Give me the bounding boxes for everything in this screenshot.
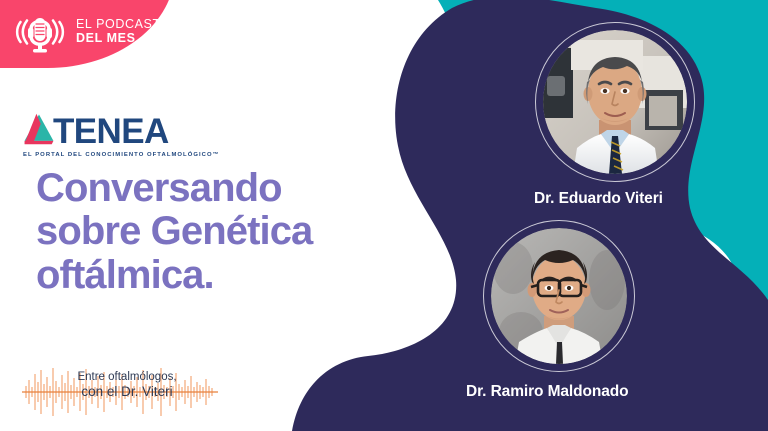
headline-line-2: sobre Genética: [36, 210, 312, 253]
waveform-tagline-text: Entre oftalmólogos, con el Dr. Viteri: [22, 370, 232, 400]
atenea-triangle-icon: [22, 112, 56, 146]
waveform-tagline-line1: Entre oftalmólogos,: [22, 370, 232, 384]
podcast-promo-graphic: EL PODCAST DEL MES TENEA EL PORTAL DEL C…: [0, 0, 768, 431]
avatar-eduardo-viteri: [543, 30, 687, 174]
page-title: Conversando sobre Genética oftálmica.: [36, 167, 312, 297]
guest-name-eduardo-viteri: Dr. Eduardo Viteri: [534, 190, 663, 208]
guest-name-ramiro-maldonado: Dr. Ramiro Maldonado: [466, 383, 629, 401]
podcast-banner-line2: DEL MES: [76, 31, 161, 45]
atenea-logo: TENEA EL PORTAL DEL CONOCIMIENTO OFTALMO…: [22, 112, 220, 158]
avatar-ramiro-maldonado: [491, 228, 627, 364]
headline-line-3: oftálmica.: [36, 254, 312, 297]
waveform-tagline-line2: con el Dr. Viteri: [22, 384, 232, 400]
podcast-banner-line1: EL PODCAST: [76, 17, 161, 31]
headline-line-1: Conversando: [36, 167, 312, 210]
atenea-wordmark: TENEA: [53, 118, 169, 147]
podcast-banner-text: EL PODCAST DEL MES: [76, 17, 161, 47]
podcast-microphone-icon: [12, 7, 68, 57]
atenea-tagline: EL PORTAL DEL CONOCIMIENTO OFTALMOLÓGICO…: [23, 152, 220, 158]
atenea-logo-row: TENEA: [22, 112, 220, 147]
waveform-tagline: Entre oftalmólogos, con el Dr. Viteri: [22, 360, 232, 422]
